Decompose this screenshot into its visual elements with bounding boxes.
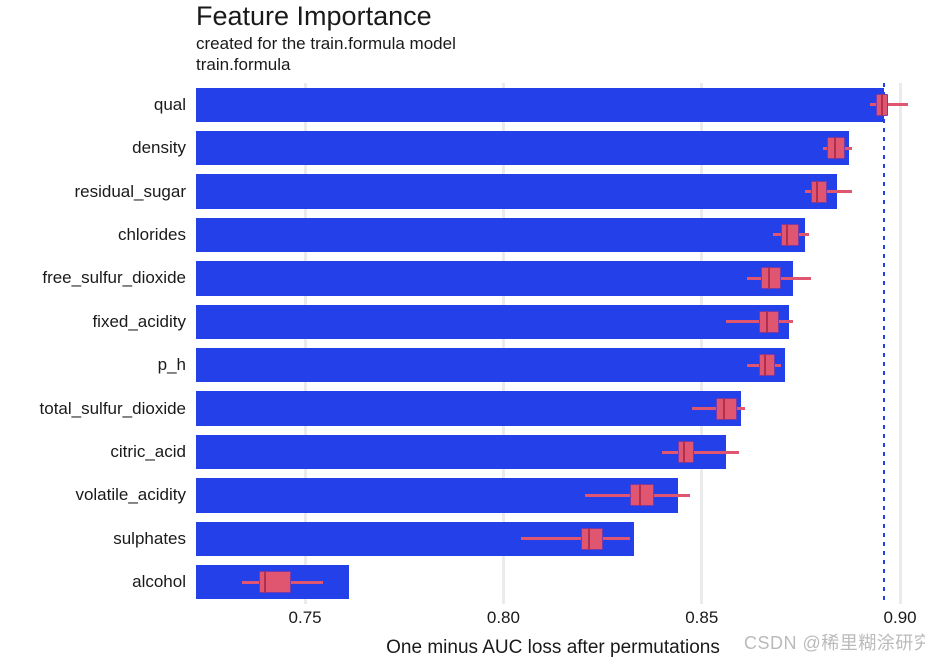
bar-fixed_acidity [196, 305, 789, 339]
bar-chlorides [196, 218, 805, 252]
y-tick-alcohol: alcohol [0, 573, 186, 590]
y-tick-sulphates: sulphates [0, 530, 186, 547]
x-tick-0_75: 0.75 [289, 608, 322, 628]
boxplot-median-residual_sugar [816, 181, 818, 203]
boxplot-box-sulphates [581, 528, 603, 550]
title-block: Feature Importance created for the train… [196, 0, 896, 75]
boxplot-median-citric_acid [683, 441, 685, 463]
bar-free_sulfur_dioxide [196, 261, 793, 295]
boxplot-whisker-sulphates [521, 537, 630, 540]
boxplot-median-free_sulfur_dioxide [768, 267, 770, 289]
boxplot-median-qual [881, 94, 883, 116]
boxplot-box-p_h [759, 354, 775, 376]
bar-citric_acid [196, 435, 726, 469]
bar-qual [196, 88, 884, 122]
boxplot-median-alcohol [264, 571, 266, 593]
y-tick-volatile_acidity: volatile_acidity [0, 486, 186, 503]
chart-title: Feature Importance [196, 0, 896, 33]
y-tick-residual_sugar: residual_sugar [0, 183, 186, 200]
y-axis-labels: qualdensityresidual_sugarchloridesfree_s… [0, 83, 186, 604]
boxplot-whisker-citric_acid [662, 451, 739, 454]
y-tick-total_sulfur_dioxide: total_sulfur_dioxide [0, 400, 186, 417]
baseline-reference-line [883, 83, 885, 604]
boxplot-median-chlorides [786, 224, 788, 246]
y-tick-qual: qual [0, 96, 186, 113]
y-tick-chlorides: chlorides [0, 226, 186, 243]
boxplot-box-fixed_acidity [759, 311, 779, 333]
chart-subtitle: created for the train.formula model [196, 33, 896, 54]
boxplot-box-volatile_acidity [630, 484, 654, 506]
boxplot-box-chlorides [781, 224, 799, 246]
x-tick-0_85: 0.85 [685, 608, 718, 628]
bar-p_h [196, 348, 785, 382]
y-tick-p_h: p_h [0, 356, 186, 373]
bar-total_sulfur_dioxide [196, 391, 741, 425]
bar-residual_sugar [196, 174, 837, 208]
y-tick-free_sulfur_dioxide: free_sulfur_dioxide [0, 269, 186, 286]
y-tick-citric_acid: citric_acid [0, 443, 186, 460]
x-axis-title: One minus AUC loss after permutations [196, 636, 910, 660]
boxplot-median-sulphates [588, 528, 590, 550]
boxplot-box-residual_sugar [811, 181, 827, 203]
x-tick-0_90: 0.90 [884, 608, 917, 628]
bar-density [196, 131, 849, 165]
boxplot-box-citric_acid [678, 441, 694, 463]
y-tick-fixed_acidity: fixed_acidity [0, 313, 186, 330]
gridline-x-0_9 [899, 83, 902, 604]
boxplot-box-total_sulfur_dioxide [716, 398, 738, 420]
feature-importance-chart: Feature Importance created for the train… [0, 0, 925, 665]
chart-subtitle-model: train.formula [196, 54, 896, 75]
boxplot-median-density [834, 137, 836, 159]
plot-panel [196, 83, 910, 604]
boxplot-median-fixed_acidity [766, 311, 768, 333]
y-tick-density: density [0, 139, 186, 156]
boxplot-median-p_h [764, 354, 766, 376]
boxplot-median-total_sulfur_dioxide [723, 398, 725, 420]
boxplot-box-free_sulfur_dioxide [761, 267, 781, 289]
x-tick-0_80: 0.80 [487, 608, 520, 628]
boxplot-median-volatile_acidity [639, 484, 641, 506]
